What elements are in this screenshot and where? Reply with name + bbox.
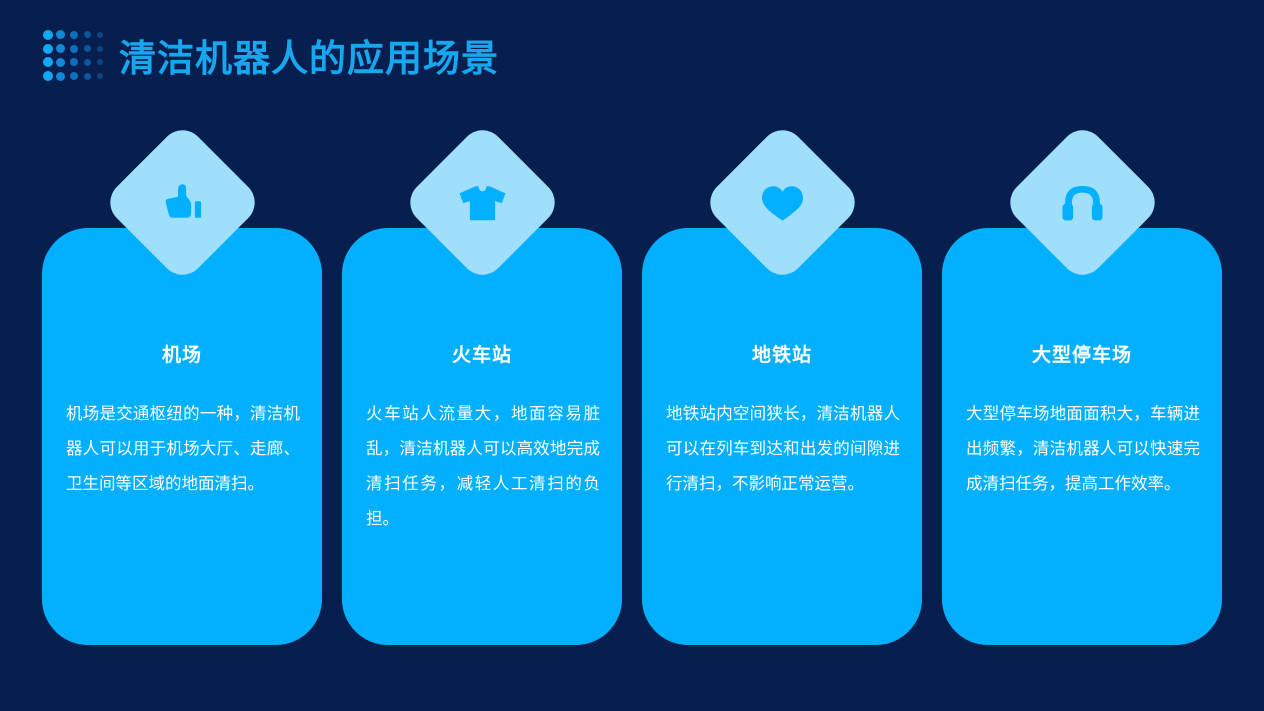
card-description: 大型停车场地面面积大，车辆进出频繁，清洁机器人可以快速完成清扫任务，提高工作效率… <box>966 397 1200 502</box>
card-title: 地铁站 <box>642 343 922 369</box>
dot <box>70 45 78 53</box>
scenario-card-parking-lot[interactable]: 大型停车场 大型停车场地面面积大，车辆进出频繁，清洁机器人可以快速完成清扫任务，… <box>942 145 1222 645</box>
card-description: 地铁站内空间狭长，清洁机器人可以在列车到达和出发的间隙进行清扫，不影响正常运营。 <box>666 397 900 502</box>
dot <box>84 73 91 80</box>
t-shirt-icon <box>451 172 513 234</box>
card-title: 机场 <box>42 343 322 369</box>
dot <box>97 46 103 52</box>
scenario-card-train-station[interactable]: 火车站 火车站人流量大，地面容易脏乱，清洁机器人可以高效地完成清扫任务，减轻人工… <box>342 145 622 645</box>
dot <box>70 58 78 66</box>
slide-header: 清洁机器人的应用场景 <box>0 0 1264 110</box>
dot <box>43 71 53 81</box>
card-description: 机场是交通枢纽的一种，清洁机器人可以用于机场大厅、走廊、卫生间等区域的地面清扫。 <box>66 397 300 502</box>
cards-row: 机场 机场是交通枢纽的一种，清洁机器人可以用于机场大厅、走廊、卫生间等区域的地面… <box>42 145 1222 645</box>
dot <box>84 31 91 38</box>
dot-grid-decoration <box>41 28 107 83</box>
dot <box>43 57 53 67</box>
heart-icon <box>751 172 813 234</box>
dot <box>56 44 65 53</box>
dot <box>84 59 91 66</box>
headphones-icon <box>1051 172 1113 234</box>
card-title: 火车站 <box>342 343 622 369</box>
page-title: 清洁机器人的应用场景 <box>119 36 499 82</box>
thumbs-up-icon <box>151 172 213 234</box>
dot <box>56 30 65 39</box>
dot <box>56 58 65 67</box>
scenario-card-subway-station[interactable]: 地铁站 地铁站内空间狭长，清洁机器人可以在列车到达和出发的间隙进行清扫，不影响正… <box>642 145 922 645</box>
dot <box>97 59 103 65</box>
scenario-card-airport[interactable]: 机场 机场是交通枢纽的一种，清洁机器人可以用于机场大厅、走廊、卫生间等区域的地面… <box>42 145 322 645</box>
dot <box>70 72 78 80</box>
dot <box>97 32 103 38</box>
dot <box>56 72 65 81</box>
dot <box>43 30 53 40</box>
card-title: 大型停车场 <box>942 343 1222 369</box>
dot <box>70 31 78 39</box>
card-description: 火车站人流量大，地面容易脏乱，清洁机器人可以高效地完成清扫任务，减轻人工清扫的负… <box>366 397 600 537</box>
dot <box>97 73 103 79</box>
dot <box>84 45 91 52</box>
dot <box>43 44 53 54</box>
